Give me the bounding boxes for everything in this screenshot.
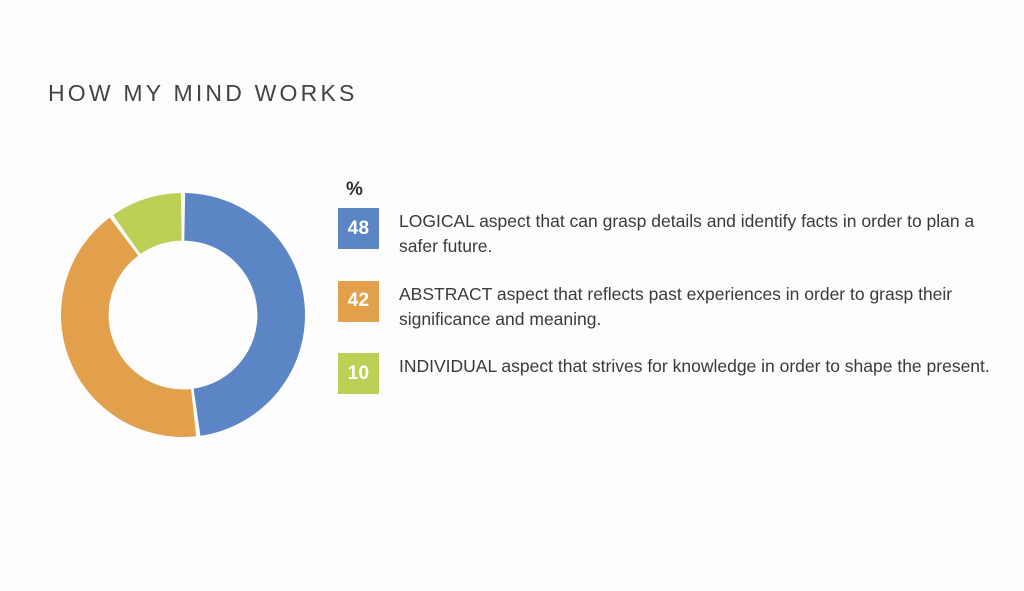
- donut-chart-svg: [58, 190, 308, 440]
- slide-canvas: HOW MY MIND WORKS % 48LOGICAL aspect tha…: [0, 0, 1024, 591]
- legend-item: 48LOGICAL aspect that can grasp details …: [338, 208, 998, 259]
- legend-item: 10INDIVIDUAL aspect that strives for kno…: [338, 353, 998, 394]
- donut-chart: [58, 190, 308, 440]
- legend-value-badge: 42: [338, 281, 379, 322]
- legend-item: 42ABSTRACT aspect that reflects past exp…: [338, 281, 998, 332]
- donut-slice: [61, 218, 196, 437]
- percent-unit-label: %: [346, 180, 998, 199]
- legend-description: ABSTRACT aspect that reflects past exper…: [399, 281, 998, 332]
- donut-slice-group: [61, 193, 305, 437]
- legend-value-badge: 10: [338, 353, 379, 394]
- donut-slice: [184, 193, 305, 436]
- legend-description: INDIVIDUAL aspect that strives for knowl…: [399, 353, 990, 379]
- legend-value-badge: 48: [338, 208, 379, 249]
- page-title: HOW MY MIND WORKS: [48, 80, 358, 107]
- legend-list: 48LOGICAL aspect that can grasp details …: [338, 208, 998, 394]
- chart-legend: % 48LOGICAL aspect that can grasp detail…: [338, 180, 998, 416]
- legend-description: LOGICAL aspect that can grasp details an…: [399, 208, 998, 259]
